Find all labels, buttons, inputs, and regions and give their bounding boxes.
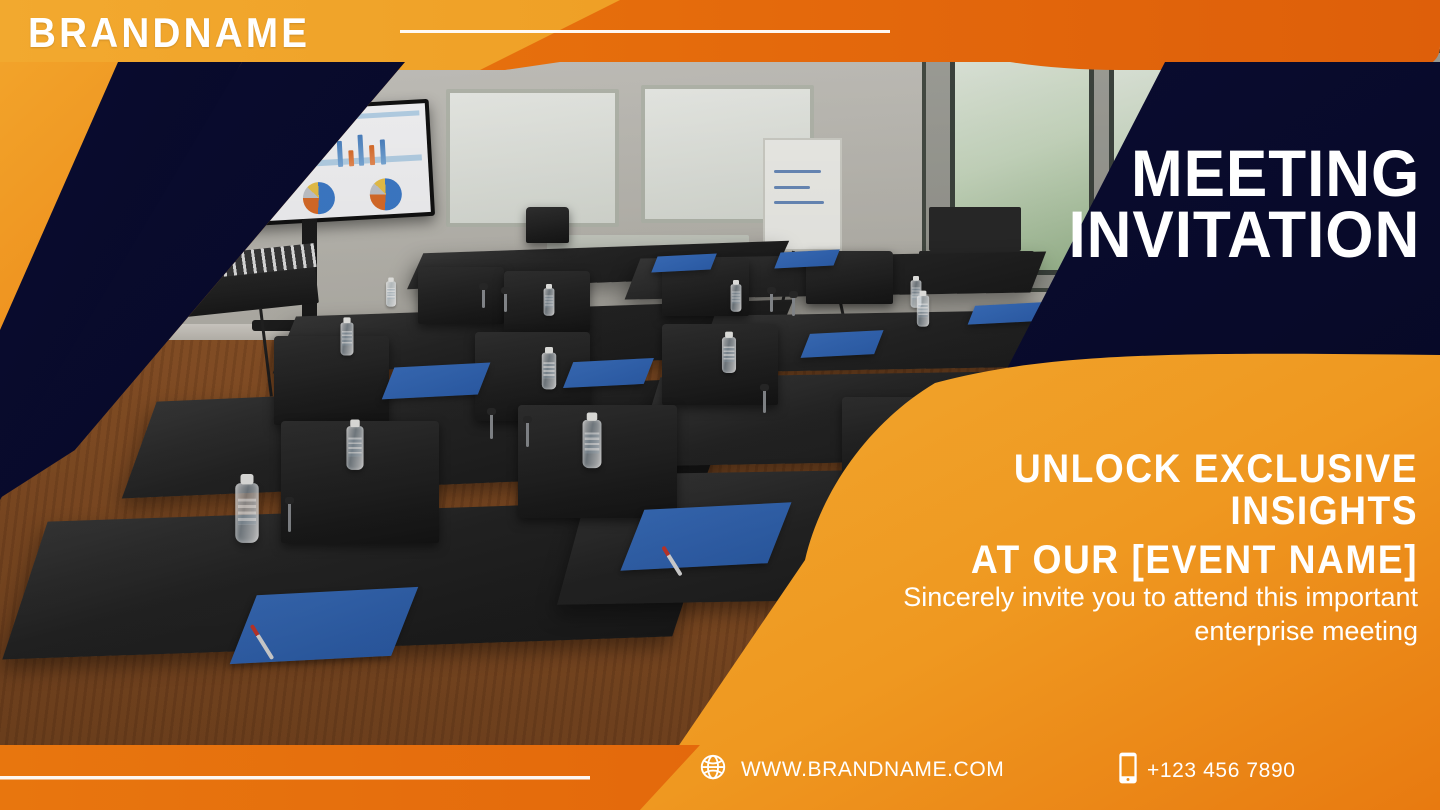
footer-rule — [0, 776, 590, 780]
smartphone-icon — [1118, 752, 1138, 789]
title-line-2: INVITATION — [1068, 204, 1420, 265]
headline: UNLOCK EXCLUSIVE INSIGHTS AT OUR [EVENT … — [818, 448, 1418, 581]
title-line-1: MEETING — [1068, 143, 1420, 204]
page-title: MEETING INVITATION — [1046, 143, 1420, 266]
header-rule — [400, 30, 890, 33]
website-url[interactable]: WWW.BRANDNAME.COM — [741, 758, 1004, 782]
phone-number[interactable]: +123 456 7890 — [1147, 759, 1296, 783]
subcopy-text: Sincerely invite you to attend this impo… — [798, 580, 1418, 648]
brand-name: BRANDNAME — [28, 9, 310, 57]
meeting-invitation-banner: BRANDNAME MEETING INVITATION UNLOCK EXCL… — [0, 0, 1440, 810]
geometric-overlay — [0, 0, 1440, 810]
footer-phone-group[interactable]: +123 456 7890 — [1118, 752, 1296, 789]
headline-line-1: UNLOCK EXCLUSIVE INSIGHTS — [860, 448, 1418, 533]
headline-line-2: AT OUR [EVENT NAME] — [860, 539, 1418, 581]
footer-website-group[interactable]: WWW.BRANDNAME.COM — [698, 752, 1004, 787]
globe-icon — [698, 752, 728, 787]
